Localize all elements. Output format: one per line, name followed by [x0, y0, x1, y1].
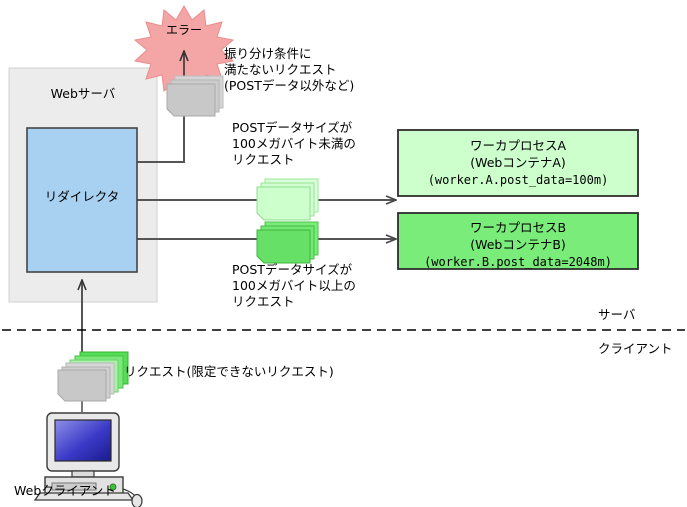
worker-a-config: (worker.A.post_data=100m) [398, 172, 638, 188]
annotation-unmatched-request: 振り分け条件に 満たないリクエスト (POSTデータ以外など) [224, 46, 354, 94]
worker-a-line2: (WebコンテナA) [398, 155, 638, 171]
webserver-label: Webサーバ [9, 86, 157, 102]
zone-label-client: クライアント [598, 341, 673, 357]
client-request-stack-icon [58, 352, 128, 401]
web-client-label: Webクライアント [14, 483, 116, 499]
redirector-label: リダイレクタ [27, 189, 137, 205]
worker-b-line1: ワーカプロセスB [398, 220, 638, 236]
worker-b-config: (worker.B.post_data=2048m) [398, 254, 638, 270]
error-burst-label: エラー [139, 22, 229, 38]
gray-request-stack-icon [167, 76, 223, 116]
worker-b-line2: (WebコンテナB) [398, 237, 638, 253]
green-request-stack-icon [257, 222, 318, 263]
annotation-under-100mb: POSTデータサイズが 100メガバイト未満の リクエスト [232, 120, 356, 168]
green-light-request-stack-icon [257, 179, 318, 220]
client-request-label: リクエスト(限定できないリクエスト) [124, 364, 334, 380]
annotation-over-100mb: POSTデータサイズが 100メガバイト以上の リクエスト [232, 262, 356, 310]
worker-a-line1: ワーカプロセスA [398, 138, 638, 154]
diagram-canvas: Webサーバ リダイレクタ エラー 振り分け条件に 満たないリクエスト (POS… [0, 0, 687, 507]
zone-label-server: サーバ [598, 307, 635, 323]
